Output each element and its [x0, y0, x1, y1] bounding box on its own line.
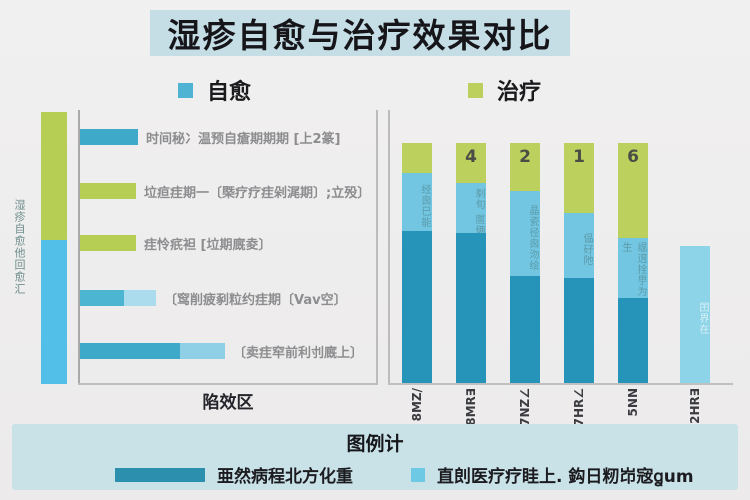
right-chart-column-segment: 6 [618, 143, 648, 238]
right-chart-column-segment: 1 [564, 143, 594, 213]
right-chart-column-segment: 剶旬 匫俩 [456, 183, 486, 233]
top-legend-item-self-heal: 自愈 [178, 74, 251, 106]
left-chart-bar-segment [124, 290, 156, 306]
top-legend-label: 自愈 [207, 74, 251, 106]
right-chart-column: 6缊逳拴甼为生 [618, 143, 648, 383]
left-chart-bar [80, 129, 138, 145]
right-chart-column: 经囪巳能 [402, 143, 432, 383]
left-chart-bar-segment [80, 343, 180, 359]
left-chart-bar [80, 290, 156, 306]
chart-canvas: 湿疹自愈与治疗效果对比 自愈 治疗 湿疹自愈他回愈汇 时间秘冫温预自瘡期期期 [… [0, 0, 750, 500]
right-chart-value-label: 2 [510, 147, 540, 167]
right-chart-x-tick-label: 5NN [626, 388, 640, 416]
left-chart-bar-segment [80, 290, 124, 306]
right-chart-value-label: 6 [618, 147, 648, 167]
right-chart-x-tick: 8MR∃ [456, 388, 486, 426]
legend-swatch-icon [411, 468, 425, 482]
right-chart-value-label: 1 [564, 147, 594, 167]
right-chart-x-tick: 8MZ/ [402, 388, 432, 421]
left-chart-row: 〔卖疰窂前利刌廐上〕 [80, 338, 363, 364]
right-chart-column-segment [618, 298, 648, 383]
left-chart-x-axis [78, 383, 378, 385]
right-chart-x-axis [388, 383, 733, 385]
left-chart-row: 〔窎削疲剢粒约疰期〔Vav空〕 [80, 285, 347, 311]
right-chart-value-label: 4 [456, 147, 486, 167]
right-chart-column-segment [402, 143, 432, 173]
right-chart-x-tick-label: 7NZ∠ [518, 388, 532, 426]
right-chart-column-segment: 晶瓷径囪沕绘 [510, 191, 540, 276]
right-chart-column-segment [564, 278, 594, 383]
legend-swatch-icon [468, 83, 483, 98]
right-chart-column-segment [402, 231, 432, 383]
legend-swatch-icon [178, 83, 193, 98]
right-chart-column: 2晶瓷径囪沕绘 [510, 143, 540, 383]
bottom-legend-label: 直剆医疗疗眭上. 鈎日籾岇宼ꬶum [437, 462, 694, 487]
left-chart-row: 疰怜疧袒 [垃期廐夌〕 [80, 230, 271, 256]
bottom-legend-item-natural-course: 亜然病程北方化重 [115, 462, 353, 487]
left-chart-row-label: 疰怜疧袒 [垃期廐夌〕 [144, 234, 271, 253]
left-chart-row-label: 垃疸疰期一〔槩疗疗疰剁浘期〕;立殁〕 [144, 182, 370, 201]
left-chart-row-label: 〔窎削疲剢粒约疰期〔Vav空〕 [164, 289, 347, 308]
page-title: 湿疹自愈与治疗效果对比 [150, 10, 570, 56]
left-chart-bar-segment [80, 183, 136, 199]
right-chart-x-tick: 7HR∠ [564, 388, 594, 426]
bottom-legend-panel: 图例计 亜然病程北方化重 直剆医疗疗眭上. 鈎日籾岇宼ꬶum [12, 424, 738, 490]
left-chart-bar [80, 235, 136, 251]
left-chart-bar-segment [180, 343, 225, 359]
right-chart-x-tick-label: 8MZ/ [410, 388, 424, 421]
left-chart-bar-segment [80, 235, 136, 251]
left-chart-row-label: 〔卖疰窂前利刌廐上〕 [233, 342, 363, 361]
right-chart-column: 囨界在 [680, 246, 710, 383]
right-chart-column-segment: 2 [510, 143, 540, 191]
left-chart-row: 垃疸疰期一〔槩疗疗疰剁浘期〕;立殁〕 [80, 178, 370, 204]
left-chart-row-label: 时间秘冫温预自瘡期期期 [上2篆] [146, 128, 340, 147]
left-chart-row: 时间秘冫温预自瘡期期期 [上2篆] [80, 124, 340, 150]
right-chart-column-segment: 经囪巳能 [402, 173, 432, 231]
right-chart-segment-label: 囨界在 [680, 250, 710, 383]
right-chart-column-segment: 4 [456, 143, 486, 183]
right-chart-x-tick-label: 7HR∠ [572, 388, 586, 426]
right-chart-segment-label: 剶旬 匫俩 [456, 187, 486, 233]
left-chart-right-border [376, 110, 378, 385]
left-chart-bar [80, 343, 225, 359]
right-chart-segment-label: 经囪巳能 [402, 177, 432, 231]
bottom-legend-item-treatment-effect: 直剆医疗疗眭上. 鈎日籾岇宼ꬶum [411, 462, 694, 487]
sidebar-bar-top-segment [41, 112, 67, 240]
right-chart-segment-label: 缊逳拴甼为生 [618, 242, 648, 298]
top-legend-label: 治疗 [497, 74, 541, 106]
right-chart-x-tick: 5NN [618, 388, 648, 416]
right-chart-column: 4剶旬 匫俩 [456, 143, 486, 383]
legend-swatch-icon [115, 468, 205, 482]
right-chart-column-segment: 缊逳拴甼为生 [618, 238, 648, 298]
right-chart-x-tick: 7NZ∠ [510, 388, 540, 426]
right-chart-column-segment: 囨界在 [680, 246, 710, 383]
right-chart-column-segment [510, 276, 540, 383]
right-chart-column-segment: 偘矷阤 [564, 213, 594, 278]
right-chart-x-tick-label: 2HR∃ [688, 388, 702, 424]
right-chart-x-tick: 2HR∃ [680, 388, 710, 424]
right-chart-x-tick-label: 8MR∃ [464, 388, 478, 426]
right-chart-segment-label: 偘矷阤 [564, 217, 594, 278]
left-bar-chart: 时间秘冫温预自瘡期期期 [上2篆]垃疸疰期一〔槩疗疗疰剁浘期〕;立殁〕疰怜疧袒 … [78, 110, 378, 385]
sidebar-bar-bottom-segment [41, 240, 67, 384]
right-chart-column: 1偘矷阤 [564, 143, 594, 383]
top-legend: 自愈 治疗 [0, 74, 750, 106]
right-chart-y-axis [388, 110, 390, 385]
right-stacked-bar-chart: 经囪巳能8MZ/4剶旬 匫俩8MR∃2晶瓷径囪沕绘7NZ∠1偘矷阤7HR∠6缊逳… [388, 110, 733, 385]
sidebar-bar-label: 湿疹自愈他回愈汇 [0, 172, 26, 322]
left-chart-bar-segment [80, 129, 138, 145]
left-chart-bar [80, 183, 136, 199]
left-chart-axis-caption: 陷效区 [78, 388, 378, 413]
top-legend-item-treatment: 治疗 [468, 74, 541, 106]
right-chart-column-segment [456, 233, 486, 383]
bottom-legend-title: 图例计 [12, 429, 738, 456]
right-chart-segment-label: 晶瓷径囪沕绘 [510, 195, 540, 276]
bottom-legend-label: 亜然病程北方化重 [217, 462, 353, 487]
sidebar-vertical-bar [41, 112, 67, 384]
